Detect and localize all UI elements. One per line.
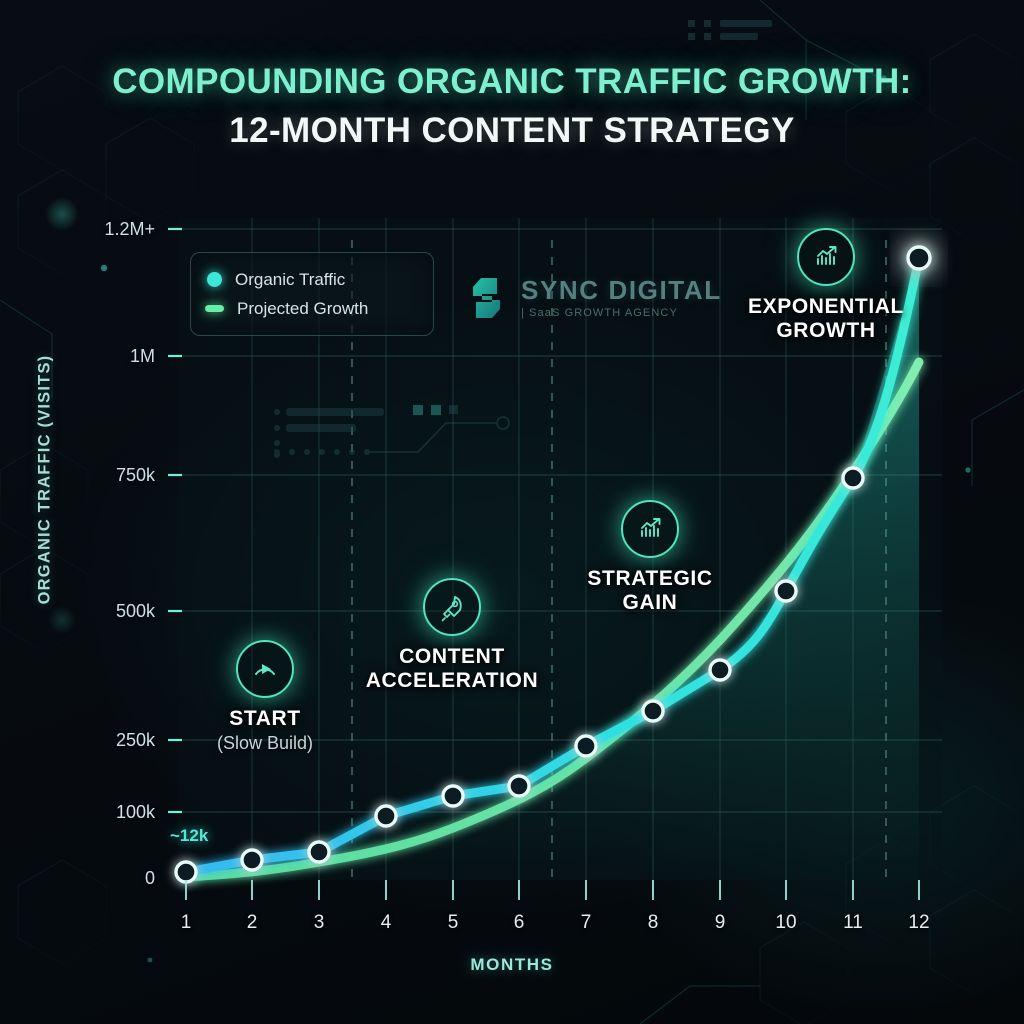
infographic-canvas: COMPOUNDING ORGANIC TRAFFIC GROWTH: 12-M… [0, 0, 1024, 1024]
annotation-title: STRATEGIC GAIN [552, 567, 748, 615]
y-axis-title: ORGANIC TRAFFIC (VISITS) [36, 330, 55, 630]
point-label-start-value: ~12k [170, 826, 208, 846]
y-tick-label: 500k [40, 601, 155, 622]
x-axis-title: MONTHS [0, 955, 1024, 975]
data-point [309, 842, 329, 862]
data-point [242, 850, 262, 870]
annotation-title: START [185, 707, 345, 731]
annotation-title: EXPONENTIAL GROWTH [728, 295, 924, 343]
data-point [443, 786, 463, 806]
chart-legend[interactable]: Organic Traffic Projected Growth [190, 252, 434, 336]
x-tick-label: 10 [766, 912, 806, 934]
y-tick-label: 1M [40, 346, 155, 367]
data-point [509, 776, 529, 796]
brand-tagline: | SaaS GROWTH AGENCY [521, 308, 722, 319]
x-tick-label: 3 [299, 912, 339, 934]
annotation-exponential-growth: EXPONENTIAL GROWTH [728, 228, 924, 343]
x-tick-label: 12 [899, 912, 939, 934]
rocket-icon [423, 578, 481, 636]
bar-chart-up-icon [621, 500, 679, 558]
annotation-subtitle: (Slow Build) [185, 733, 345, 754]
y-tick-label: 250k [40, 730, 155, 751]
play-gauge-icon [236, 640, 294, 698]
y-tick-label: 100k [40, 802, 155, 823]
x-tick-label: 9 [700, 912, 740, 934]
y-tick-label: 0 [40, 868, 155, 889]
x-tick-label: 11 [833, 912, 873, 934]
data-point [643, 701, 663, 721]
x-tick-label: 8 [633, 912, 673, 934]
data-point [376, 806, 396, 826]
brand-name: SYNC DIGITAL [521, 277, 722, 303]
data-point [843, 468, 863, 488]
legend-item-projected-growth[interactable]: Projected Growth [205, 294, 419, 323]
annotation-title: CONTENT ACCELERATION [360, 645, 544, 693]
annotation-strategic-gain: STRATEGIC GAIN [552, 500, 748, 615]
annotation-start: START (Slow Build) [185, 640, 345, 754]
data-point [776, 581, 796, 601]
x-tick-label: 5 [433, 912, 473, 934]
y-tick-label: 750k [40, 465, 155, 486]
x-tick-label: 1 [166, 912, 206, 934]
bar-chart-up-icon [797, 228, 855, 286]
legend-label: Projected Growth [237, 299, 368, 319]
legend-item-organic-traffic[interactable]: Organic Traffic [205, 265, 419, 294]
x-tick-marks [186, 880, 919, 900]
legend-label: Organic Traffic [235, 270, 345, 290]
sync-s-logo-icon [470, 275, 510, 321]
x-tick-label: 7 [566, 912, 606, 934]
y-tick-label: 1.2M+ [40, 219, 155, 240]
annotation-content-acceleration: CONTENT ACCELERATION [360, 578, 544, 693]
x-tick-label: 2 [232, 912, 272, 934]
legend-dash-icon [205, 305, 224, 312]
data-point [576, 736, 596, 756]
x-tick-label: 6 [499, 912, 539, 934]
data-point [710, 660, 730, 680]
x-tick-label: 4 [366, 912, 406, 934]
brand-watermark: SYNC DIGITAL | SaaS GROWTH AGENCY [470, 275, 722, 321]
legend-dot-icon [207, 272, 222, 287]
